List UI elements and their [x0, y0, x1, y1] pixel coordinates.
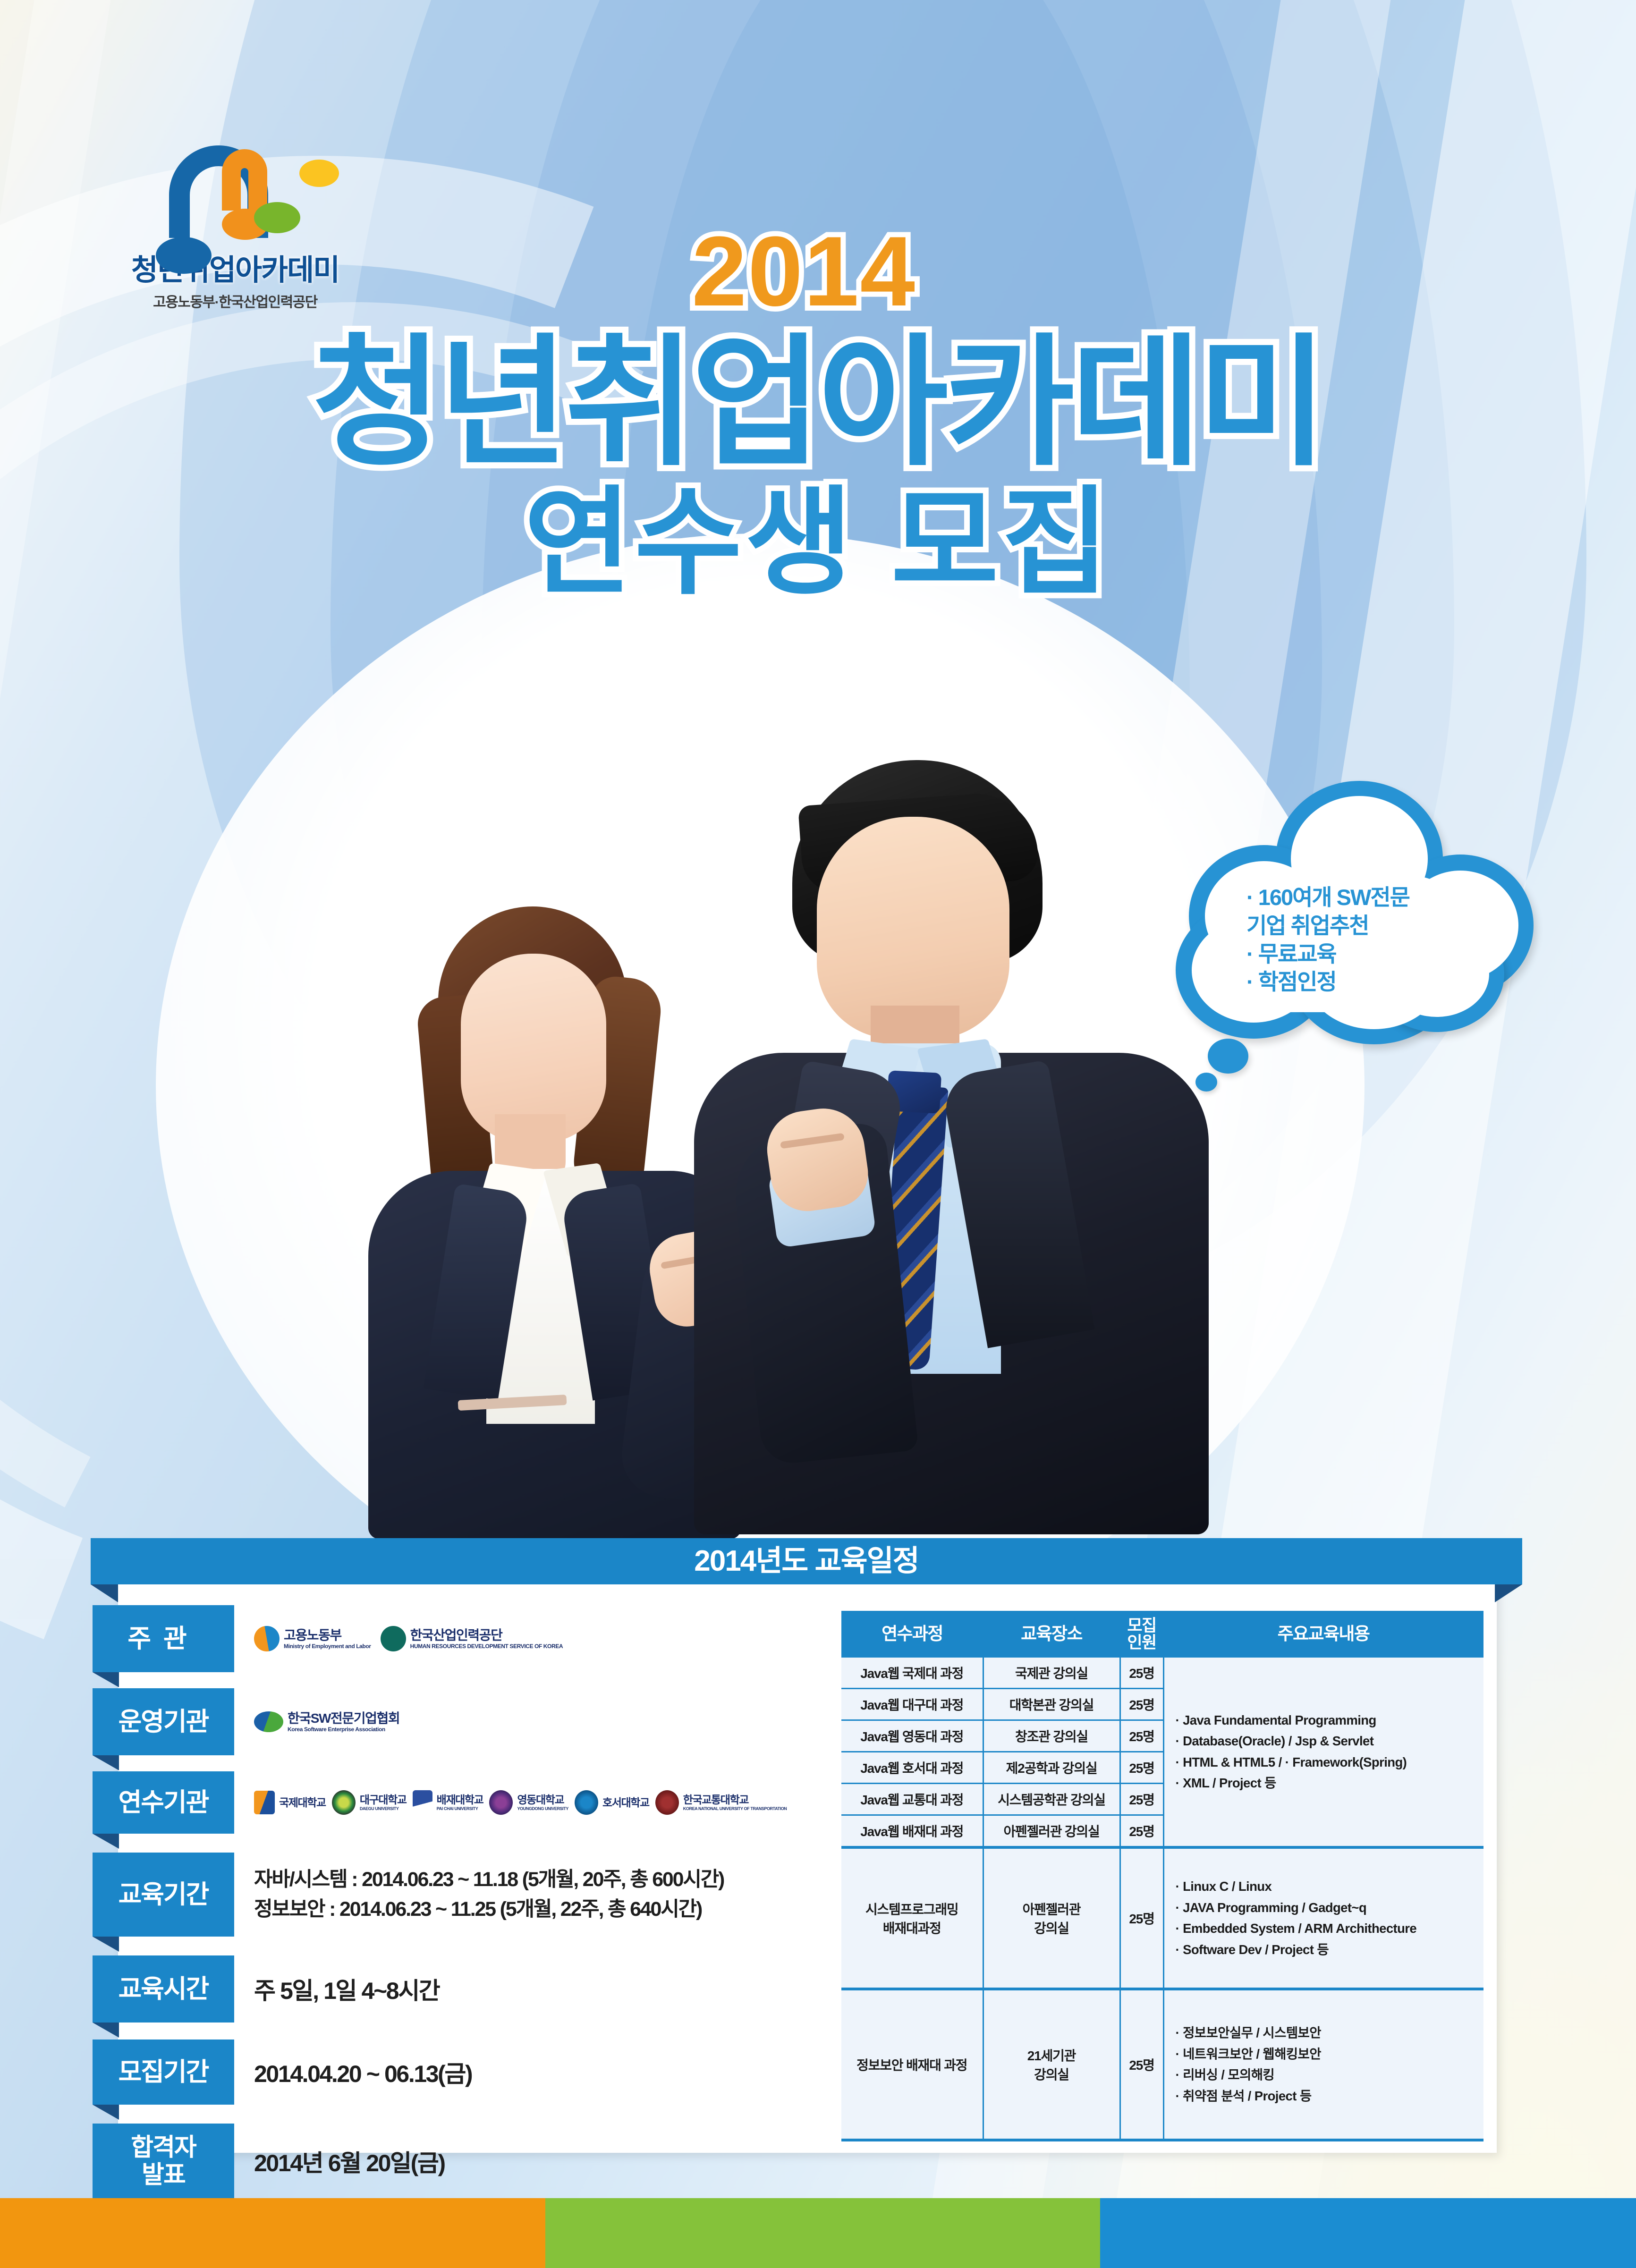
bubble-tail-small	[1195, 1073, 1217, 1092]
bottom-bar-blue	[1100, 2198, 1636, 2268]
bubble-bullet: · 학점인정	[1246, 968, 1445, 996]
employment-labor-mark	[254, 1626, 280, 1651]
institution-logo-row: 국제대학교대구대학교DAEGU UNIVERSITY배재대학교PAI CHAI …	[254, 1790, 848, 1815]
info-row-value: 2014년 6월 20일(금)	[234, 2124, 848, 2199]
curriculum-line: · 정보보안실무 / 시스템보안	[1176, 2023, 1481, 2044]
info-row-text: 정보보안 : 2014.06.23 ~ 11.25 (5개월, 22주, 총 6…	[254, 1895, 848, 1924]
table-header-place: 교육장소	[983, 1611, 1120, 1658]
man-figure	[680, 760, 1228, 1534]
kookje-univ-mark	[254, 1791, 275, 1814]
cell-curriculum: · 정보보안실무 / 시스템보안· 네트워크보안 / 웹해킹보안· 리버싱 / …	[1163, 1989, 1483, 2140]
cell-capacity: 25명	[1120, 1815, 1163, 1848]
hero-title: 청년취업아카데미	[0, 328, 1636, 478]
institution-name-en: KOREA NATIONAL UNIVERSITY OF TRANSPORTAT…	[683, 1807, 787, 1811]
benefits-thought-bubble: · 160여개 SW전문 기업 취업추천 · 무료교육 · 학점인정	[1166, 774, 1506, 1076]
info-row-value: 고용노동부Ministry of Employment and Labor한국산…	[234, 1605, 848, 1672]
table-body: Java웹 국제대 과정국제관 강의실25명· Java Fundamental…	[841, 1658, 1483, 2140]
info-row: 교육기간자바/시스템 : 2014.06.23 ~ 11.18 (5개월, 20…	[93, 1853, 848, 1937]
info-row-value: 국제대학교대구대학교DAEGU UNIVERSITY배재대학교PAI CHAI …	[234, 1771, 848, 1834]
info-row-label: 합격자발표	[93, 2124, 234, 2199]
institution-logo: 국제대학교	[254, 1791, 326, 1814]
info-row-value: 주 5일, 1일 4~8시간	[234, 1955, 848, 2023]
bottom-bar-green	[545, 2198, 1100, 2268]
institution-logo-row: 고용노동부Ministry of Employment and Labor한국산…	[254, 1626, 848, 1651]
cell-course: Java웹 대구대 과정	[841, 1689, 983, 1720]
cell-course: Java웹 배재대 과정	[841, 1815, 983, 1848]
curriculum-line: · 리버싱 / 모의해킹	[1176, 2065, 1481, 2086]
hrdkorea-mark	[381, 1626, 406, 1651]
info-row-value: 2014.04.20 ~ 06.13(금)	[234, 2040, 848, 2105]
institution-logo: 한국교통대학교KOREA NATIONAL UNIVERSITY OF TRAN…	[655, 1790, 787, 1815]
cell-capacity: 25명	[1120, 1689, 1163, 1720]
section-banner: 2014년도 교육일정	[91, 1538, 1522, 1584]
transportation-univ-mark	[655, 1790, 679, 1815]
curriculum-line: · Embedded System / ARM Archithecture	[1176, 1918, 1481, 1939]
cell-curriculum: · Java Fundamental Programming· Database…	[1163, 1658, 1483, 1847]
institution-name-en: YOUNGDONG UNIVERSITY	[517, 1807, 568, 1811]
cell-course: Java웹 호서대 과정	[841, 1752, 983, 1784]
institution-name-ko: 국제대학교	[279, 1797, 326, 1808]
curriculum-line: · XML / Project 등	[1176, 1773, 1481, 1794]
info-row-label: 교육기간	[93, 1853, 234, 1937]
institution-name-en: DAEGU UNIVERSITY	[360, 1807, 407, 1811]
info-row-label: 교육시간	[93, 1955, 234, 2023]
cell-curriculum: · Linux C / Linux· JAVA Programming / Ga…	[1163, 1847, 1483, 1989]
institution-logo: 대구대학교DAEGU UNIVERSITY	[332, 1790, 407, 1815]
institution-logo: 영동대학교YOUNGDONG UNIVERSITY	[489, 1790, 568, 1815]
institution-name-en: HUMAN RESOURCES DEVELOPMENT SERVICE OF K…	[410, 1643, 563, 1649]
table-header-capacity: 모집인원	[1120, 1611, 1163, 1658]
institution-name-ko: 배재대학교	[437, 1794, 483, 1805]
info-row: 모집기간2014.04.20 ~ 06.13(금)	[93, 2040, 848, 2105]
cell-capacity: 25명	[1120, 1784, 1163, 1815]
institution-logo-row: 한국SW전문기업협회Korea Software Enterprise Asso…	[254, 1711, 848, 1732]
curriculum-line: · JAVA Programming / Gadget~q	[1176, 1897, 1481, 1919]
info-row: 합격자발표2014년 6월 20일(금)	[93, 2124, 848, 2199]
institution-name-ko: 한국SW전문기업협회	[288, 1712, 399, 1725]
cell-capacity: 25명	[1120, 1752, 1163, 1784]
curriculum-line: · Java Fundamental Programming	[1176, 1710, 1481, 1731]
institution-name-ko: 대구대학교	[360, 1794, 407, 1805]
cell-course: Java웹 국제대 과정	[841, 1658, 983, 1689]
institution-name-ko: 호서대학교	[602, 1797, 649, 1808]
info-row-label: 운영기관	[93, 1688, 234, 1755]
info-row-text: 2014년 6월 20일(금)	[254, 2144, 848, 2178]
table-row: 시스템프로그래밍배재대과정아펜젤러관강의실25명· Linux C / Linu…	[841, 1847, 1483, 1989]
cell-course: Java웹 교통대 과정	[841, 1784, 983, 1815]
institution-logo: 고용노동부Ministry of Employment and Labor	[254, 1626, 371, 1651]
section-banner-title: 2014년도 교육일정	[91, 1538, 1522, 1584]
cell-place: 21세기관강의실	[983, 1989, 1120, 2140]
curriculum-line: · 네트워크보안 / 웹해킹보안	[1176, 2044, 1481, 2065]
table-header-row: 연수과정 교육장소 모집인원 주요교육내용	[841, 1611, 1483, 1658]
cell-place: 시스템공학관 강의실	[983, 1784, 1120, 1815]
info-rows: 주관고용노동부Ministry of Employment and Labor한…	[93, 1605, 848, 2199]
cell-place: 대학본관 강의실	[983, 1689, 1120, 1720]
kosea-mark	[254, 1711, 283, 1732]
info-row: 운영기관한국SW전문기업협회Korea Software Enterprise …	[93, 1688, 848, 1755]
institution-name-ko: 영동대학교	[517, 1794, 568, 1805]
curriculum-line: · Linux C / Linux	[1176, 1876, 1481, 1897]
hero-year: 2014	[0, 222, 1636, 321]
bubble-tail-large	[1208, 1039, 1248, 1074]
table-row: Java웹 국제대 과정국제관 강의실25명· Java Fundamental…	[841, 1658, 1483, 1689]
institution-logo: 한국SW전문기업협회Korea Software Enterprise Asso…	[254, 1711, 399, 1732]
institution-logo: 한국산업인력공단HUMAN RESOURCES DEVELOPMENT SERV…	[381, 1626, 563, 1651]
institution-name-en: Ministry of Employment and Labor	[284, 1643, 371, 1649]
daegu-univ-mark	[332, 1790, 356, 1815]
curriculum-line: · Database(Oracle) / Jsp & Servlet	[1176, 1731, 1481, 1752]
info-row-label: 주관	[93, 1605, 234, 1672]
cell-course: 정보보안 배재대 과정	[841, 1989, 983, 2140]
cell-capacity: 25명	[1120, 1658, 1163, 1689]
table-header-content: 주요교육내용	[1163, 1611, 1483, 1658]
course-schedule-table: 연수과정 교육장소 모집인원 주요교육내용 Java웹 국제대 과정국제관 강의…	[841, 1611, 1483, 2141]
institution-name-ko: 한국산업인력공단	[410, 1629, 563, 1642]
info-row: 교육시간주 5일, 1일 4~8시간	[93, 1955, 848, 2023]
institution-name-ko: 고용노동부	[284, 1629, 371, 1642]
curriculum-line: · Software Dev / Project 등	[1176, 1939, 1481, 1961]
cell-place: 아펜젤러관 강의실	[983, 1815, 1120, 1848]
youngdong-univ-mark	[489, 1790, 513, 1815]
info-row-label: 모집기간	[93, 2040, 234, 2105]
bubble-bullet: · 160여개 SW전문	[1246, 884, 1445, 911]
institution-name-en: Korea Software Enterprise Association	[288, 1726, 399, 1732]
institution-name-en: PAI CHAI UNIVERSITY	[437, 1807, 483, 1811]
bubble-bullet: · 무료교육	[1246, 940, 1445, 968]
institution-logo: 호서대학교	[575, 1790, 649, 1815]
info-row-text: 자바/시스템 : 2014.06.23 ~ 11.18 (5개월, 20주, 총…	[254, 1865, 848, 1895]
info-row-value: 한국SW전문기업협회Korea Software Enterprise Asso…	[234, 1688, 848, 1755]
hoseo-univ-mark	[575, 1790, 598, 1815]
table-row: 정보보안 배재대 과정21세기관강의실25명· 정보보안실무 / 시스템보안· …	[841, 1989, 1483, 2140]
institution-logo: 배재대학교PAI CHAI UNIVERSITY	[413, 1790, 483, 1815]
cell-capacity: 25명	[1120, 1720, 1163, 1752]
bubble-bullet: 기업 취업추천	[1246, 912, 1445, 939]
info-row-text: 2014.04.20 ~ 06.13(금)	[254, 2055, 848, 2089]
bottom-color-bars	[0, 2198, 1636, 2268]
hero-title-block: 2014 청년취업아카데미 연수생 모집	[0, 222, 1636, 605]
table-header-course: 연수과정	[841, 1611, 983, 1658]
cell-place: 국제관 강의실	[983, 1658, 1120, 1689]
cell-place: 아펜젤러관강의실	[983, 1847, 1120, 1989]
paichai-univ-mark	[413, 1790, 432, 1815]
cell-capacity: 25명	[1120, 1989, 1163, 2140]
hero-subtitle: 연수생 모집	[0, 481, 1636, 605]
bottom-bar-orange	[0, 2198, 545, 2268]
curriculum-line: · 취약점 분석 / Project 등	[1176, 2086, 1481, 2107]
cell-course: 시스템프로그래밍배재대과정	[841, 1847, 983, 1989]
info-row-label: 연수기관	[93, 1771, 234, 1834]
cell-course: Java웹 영동대 과정	[841, 1720, 983, 1752]
info-row: 주관고용노동부Ministry of Employment and Labor한…	[93, 1605, 848, 1672]
cell-place: 제2공학과 강의실	[983, 1752, 1120, 1784]
institution-name-ko: 한국교통대학교	[683, 1794, 787, 1805]
info-row-text: 주 5일, 1일 4~8시간	[254, 1972, 848, 2006]
cell-place: 창조관 강의실	[983, 1720, 1120, 1752]
info-row-value: 자바/시스템 : 2014.06.23 ~ 11.18 (5개월, 20주, 총…	[234, 1853, 848, 1937]
info-row: 연수기관국제대학교대구대학교DAEGU UNIVERSITY배재대학교PAI C…	[93, 1771, 848, 1834]
curriculum-line: · HTML & HTML5 / · Framework(Spring)	[1176, 1752, 1481, 1773]
people-photo	[349, 722, 1228, 1534]
bubble-bullet-list: · 160여개 SW전문 기업 취업추천 · 무료교육 · 학점인정	[1246, 884, 1445, 997]
cell-capacity: 25명	[1120, 1847, 1163, 1989]
